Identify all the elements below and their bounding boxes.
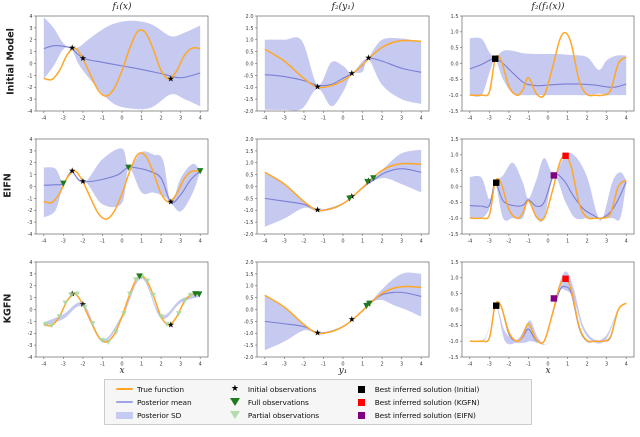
true-function-line (44, 276, 200, 342)
marker-best-kgfn (562, 276, 568, 282)
legend-column-2: ★ Initial observations Full observations… (222, 383, 349, 421)
y-tick-label: -4 (28, 232, 33, 238)
x-tick-label: -4 (467, 116, 472, 122)
y-tick-label: 1.0 (451, 276, 459, 282)
x-tick-label: -3 (61, 362, 66, 368)
y-tick-label: 3 (29, 26, 32, 32)
x-tick-label: -3 (487, 239, 492, 245)
y-tick-label: 1.0 (246, 284, 254, 290)
marker-best-kgfn (562, 153, 568, 159)
y-tick-label: -2.0 (244, 355, 254, 361)
x-tick-label: 1 (361, 239, 364, 245)
x-tick-label: 3 (400, 116, 403, 122)
x-tick-label: -1 (321, 362, 326, 368)
y-tick-label: 0 (29, 61, 32, 67)
x-tick-label: 0 (546, 116, 549, 122)
x-tick-label: 4 (625, 239, 628, 245)
plot-panel-initial-composite: -4-3-2-101234-1.5-1.0-0.50.00.51.01.5 (462, 16, 634, 111)
y-tick-label: 0.5 (451, 169, 459, 175)
x-tick-label: 0 (341, 116, 344, 122)
x-tick-label: -2 (80, 116, 85, 122)
marker-initial-observation: ★ (314, 206, 322, 216)
marker-best-initial (493, 180, 499, 186)
x-tick-label: 2 (380, 239, 383, 245)
x-tick-label: -4 (467, 362, 472, 368)
x-tick-label: -3 (282, 239, 287, 245)
y-tick-label: -2.0 (244, 232, 254, 238)
x-tick-label: 2 (159, 362, 162, 368)
x-tick-label: 3 (605, 362, 608, 368)
x-tick-label: 3 (400, 362, 403, 368)
y-tick-label: 4 (29, 14, 32, 20)
legend-label: Full observations (248, 398, 309, 407)
y-tick-label: -1.5 (244, 97, 254, 103)
legend: True function Posterior mean Posterior S… (104, 379, 532, 425)
legend-label: True function (137, 385, 184, 394)
posterior-sd-band (265, 37, 421, 110)
plot-panel-kgfn-f1: ★★★-4-3-2-101234-4-3-2-101234 (36, 262, 208, 357)
marker-initial-observation: ★ (348, 69, 356, 79)
figure-caption (8, 427, 632, 437)
plot-panel-eifn-f1: ★★★-4-3-2-101234-4-3-2-101234 (36, 139, 208, 234)
x-tick-label: 3 (605, 116, 608, 122)
y-tick-label: -3 (28, 343, 33, 349)
y-tick-label: -3 (28, 97, 33, 103)
y-tick-label: -1.0 (244, 331, 254, 337)
x-tick-label: -2 (301, 239, 306, 245)
x-tick-label: 3 (400, 239, 403, 245)
marker-initial-observation: ★ (68, 166, 76, 176)
plot-panel-kgfn-f2: ★★★-4-3-2-101234-2.0-1.5-1.0-0.50.00.51.… (257, 262, 429, 357)
x-tick-label: -3 (282, 362, 287, 368)
x-tick-label: -4 (262, 116, 267, 122)
y-tick-label: -1.5 (449, 109, 459, 115)
y-tick-label: 0.0 (246, 184, 254, 190)
true-function-line (470, 279, 626, 344)
y-tick-label: -0.5 (244, 73, 254, 79)
x-tick-label: -1 (321, 239, 326, 245)
y-tick-label: -1.5 (449, 232, 459, 238)
x-tick-label: 0 (120, 239, 123, 245)
x-tick-label: -3 (61, 239, 66, 245)
y-tick-label: 3 (29, 149, 32, 155)
legend-label: Partial observations (248, 411, 319, 420)
x-tick-label: 0 (120, 116, 123, 122)
y-tick-label: -2 (28, 85, 33, 91)
column-title-f2: f₂(y₁) (257, 2, 429, 12)
x-tick-label: -2 (301, 362, 306, 368)
legend-label: Best inferred solution (Initial) (375, 385, 480, 394)
legend-column-3: Best inferred solution (Initial) Best in… (349, 383, 525, 421)
x-tick-label: -3 (487, 116, 492, 122)
y-tick-label: -1.0 (449, 339, 459, 345)
x-tick-label: 1 (140, 116, 143, 122)
marker-partial-observation (63, 300, 69, 305)
x-tick-label: -2 (80, 362, 85, 368)
posterior-sd-band (44, 17, 200, 109)
x-tick-label: 0 (546, 362, 549, 368)
square-red-icon (349, 399, 375, 406)
y-tick-label: 0.5 (451, 46, 459, 52)
legend-label: Posterior SD (137, 411, 181, 420)
square-black-icon (349, 386, 375, 393)
y-tick-label: 2 (29, 38, 32, 44)
y-tick-label: -1.0 (449, 93, 459, 99)
y-tick-label: 0.0 (451, 184, 459, 190)
legend-item-best-initial: Best inferred solution (Initial) (349, 383, 525, 395)
y-tick-label: 0 (29, 184, 32, 190)
x-tick-label: -4 (41, 116, 46, 122)
y-tick-label: 1.5 (246, 26, 254, 32)
y-tick-label: -1 (28, 319, 33, 325)
posterior-mean-line-icon (111, 401, 137, 403)
x-tick-label: -2 (506, 116, 511, 122)
marker-best-eifn (551, 172, 557, 178)
x-tick-label: 2 (585, 116, 588, 122)
axes-frame (36, 262, 208, 357)
y-tick-label: 2.0 (246, 260, 254, 266)
x-tick-label: 1 (566, 239, 569, 245)
column-title-composite: f₂(f₁(x)) (462, 2, 634, 12)
x-tick-label: 4 (625, 116, 628, 122)
marker-initial-observation: ★ (365, 53, 373, 63)
axes-frame (462, 262, 634, 357)
x-tick-label: 2 (159, 116, 162, 122)
y-tick-label: 1.5 (451, 137, 459, 143)
legend-label: Best inferred solution (KGFN) (375, 398, 480, 407)
star-icon: ★ (222, 385, 248, 394)
y-tick-label: -0.5 (244, 319, 254, 325)
x-tick-label: -3 (487, 362, 492, 368)
plot-panel-eifn-composite: -4-3-2-101234-1.5-1.0-0.50.00.51.01.5 (462, 139, 634, 234)
x-tick-label: 4 (199, 116, 202, 122)
y-tick-label: -1.5 (244, 220, 254, 226)
marker-initial-observation: ★ (68, 43, 76, 53)
x-tick-label: -4 (467, 239, 472, 245)
y-tick-label: 1.5 (451, 260, 459, 266)
marker-initial-observation: ★ (167, 74, 175, 84)
y-tick-label: -1 (28, 73, 33, 79)
y-tick-label: -1 (28, 196, 33, 202)
y-tick-label: -0.5 (449, 200, 459, 206)
x-tick-label: 1 (566, 116, 569, 122)
y-tick-label: -2.0 (244, 109, 254, 115)
x-tick-label: -1 (526, 239, 531, 245)
x-tick-label: -2 (506, 362, 511, 368)
posterior-sd-band (44, 148, 200, 217)
x-tick-label: 0 (341, 362, 344, 368)
marker-initial-observation: ★ (79, 177, 87, 187)
y-tick-label: 2.0 (246, 14, 254, 20)
x-tick-label: -1 (100, 239, 105, 245)
true-function-line-icon (111, 388, 137, 390)
marker-initial-observation: ★ (314, 83, 322, 93)
y-tick-label: -0.5 (449, 77, 459, 83)
y-tick-label: 1.5 (451, 14, 459, 20)
y-tick-label: 1.5 (246, 272, 254, 278)
x-tick-label: 2 (380, 116, 383, 122)
marker-best-initial (493, 303, 499, 309)
legend-item-best-kgfn: Best inferred solution (KGFN) (349, 396, 525, 408)
x-tick-label: 1 (361, 362, 364, 368)
x-tick-label: 1 (361, 116, 364, 122)
x-tick-label: 4 (420, 116, 423, 122)
figure-root: Initial Model EIFN KGFN f₁(x) f₂(y₁) f₂(… (0, 0, 640, 437)
triangle-down-faded-icon (222, 411, 248, 419)
triangle-down-icon (222, 398, 248, 406)
y-tick-label: -0.5 (244, 196, 254, 202)
marker-best-eifn (551, 295, 557, 301)
y-tick-label: 1.5 (246, 149, 254, 155)
x-tick-label: -4 (41, 362, 46, 368)
plot-panel-initial-f1: ★★★-4-3-2-101234-4-3-2-101234 (36, 16, 208, 111)
x-tick-label: 0 (341, 239, 344, 245)
x-tick-label: -1 (100, 362, 105, 368)
legend-column-1: True function Posterior mean Posterior S… (111, 383, 222, 421)
posterior-mean-line (44, 276, 200, 342)
y-tick-label: 0.5 (451, 292, 459, 298)
marker-partial-observation (90, 321, 96, 326)
y-tick-label: 0.5 (246, 296, 254, 302)
posterior-sd-band-icon (111, 412, 137, 419)
posterior-sd-band (44, 276, 200, 343)
square-purple-icon (349, 412, 375, 419)
y-tick-label: 1.0 (246, 161, 254, 167)
y-tick-label: 1 (29, 173, 32, 179)
y-tick-label: -0.5 (449, 323, 459, 329)
legend-item-posterior-sd: Posterior SD (111, 409, 222, 421)
x-tick-label: 2 (380, 362, 383, 368)
y-tick-label: 0.0 (246, 61, 254, 67)
x-tick-label: -1 (100, 116, 105, 122)
y-tick-label: -4 (28, 109, 33, 115)
x-tick-label: 1 (566, 362, 569, 368)
y-tick-label: 2.0 (246, 137, 254, 143)
y-tick-label: -1.0 (244, 208, 254, 214)
y-tick-label: -1.5 (244, 343, 254, 349)
x-tick-label: -1 (526, 362, 531, 368)
legend-item-full-observations: Full observations (222, 396, 349, 408)
plot-panel-eifn-f2: ★★★-4-3-2-101234-2.0-1.5-1.0-0.50.00.51.… (257, 139, 429, 234)
legend-item-best-eifn: Best inferred solution (EIFN) (349, 409, 525, 421)
x-tick-label: -3 (61, 116, 66, 122)
plot-panel-kgfn-composite: -4-3-2-101234-1.5-1.0-0.50.00.51.01.5 (462, 262, 634, 357)
y-tick-label: 0.0 (246, 307, 254, 313)
x-tick-label: 0 (546, 239, 549, 245)
marker-best-initial (492, 56, 498, 62)
column-title-f1: f₁(x) (36, 2, 208, 12)
legend-label: Best inferred solution (EIFN) (375, 411, 476, 420)
x-tick-label: 2 (159, 239, 162, 245)
y-tick-label: 0.0 (451, 61, 459, 67)
x-tick-label: -1 (321, 116, 326, 122)
x-tick-label: 3 (605, 239, 608, 245)
y-tick-label: 1 (29, 296, 32, 302)
plot-panel-initial-f2: ★★★-4-3-2-101234-2.0-1.5-1.0-0.50.00.51.… (257, 16, 429, 111)
legend-label: Posterior mean (137, 398, 192, 407)
y-tick-label: 2 (29, 161, 32, 167)
y-tick-label: 1.0 (451, 153, 459, 159)
x-tick-label: -4 (262, 239, 267, 245)
x-tick-label: -2 (80, 239, 85, 245)
y-tick-label: -2 (28, 331, 33, 337)
legend-item-initial-observations: ★ Initial observations (222, 383, 349, 395)
x-tick-label: 3 (179, 362, 182, 368)
x-tick-label: 3 (179, 239, 182, 245)
x-tick-label: -4 (41, 239, 46, 245)
y-tick-label: -1.5 (449, 355, 459, 361)
x-tick-label: -1 (526, 116, 531, 122)
y-tick-label: -2 (28, 208, 33, 214)
x-tick-label: 4 (199, 239, 202, 245)
x-tick-label: 1 (140, 239, 143, 245)
y-tick-label: -1.0 (244, 85, 254, 91)
posterior-sd-band (265, 272, 421, 350)
legend-item-partial-observations: Partial observations (222, 409, 349, 421)
y-tick-label: 0 (29, 307, 32, 313)
x-tick-label: 3 (179, 116, 182, 122)
x-tick-label: 2 (585, 239, 588, 245)
x-tick-label: 4 (625, 362, 628, 368)
x-tick-label: 0 (120, 362, 123, 368)
y-tick-label: 0.0 (451, 307, 459, 313)
y-tick-label: -3 (28, 220, 33, 226)
y-tick-label: 4 (29, 137, 32, 143)
marker-initial-observation: ★ (79, 54, 87, 64)
x-tick-label: 4 (199, 362, 202, 368)
y-tick-label: 2 (29, 284, 32, 290)
x-tick-label: -3 (282, 116, 287, 122)
y-tick-label: -1.0 (449, 216, 459, 222)
marker-initial-observation: ★ (167, 197, 175, 207)
y-tick-label: 0.5 (246, 173, 254, 179)
legend-label: Initial observations (248, 385, 316, 394)
marker-initial-observation: ★ (348, 315, 356, 325)
x-tick-label: -2 (301, 116, 306, 122)
marker-initial-observation: ★ (314, 329, 322, 339)
legend-item-posterior-mean: Posterior mean (111, 396, 222, 408)
x-tick-label: 1 (140, 362, 143, 368)
x-tick-label: 4 (420, 239, 423, 245)
x-tick-label: 4 (420, 362, 423, 368)
y-tick-label: 0.5 (246, 50, 254, 56)
x-tick-label: 2 (585, 362, 588, 368)
y-tick-label: -4 (28, 355, 33, 361)
legend-item-true-function: True function (111, 383, 222, 395)
y-tick-label: 1.0 (451, 30, 459, 36)
y-tick-label: 3 (29, 272, 32, 278)
y-tick-label: 4 (29, 260, 32, 266)
x-tick-label: -4 (262, 362, 267, 368)
y-tick-label: 1 (29, 50, 32, 56)
y-tick-label: 1.0 (246, 38, 254, 44)
x-tick-label: -2 (506, 239, 511, 245)
